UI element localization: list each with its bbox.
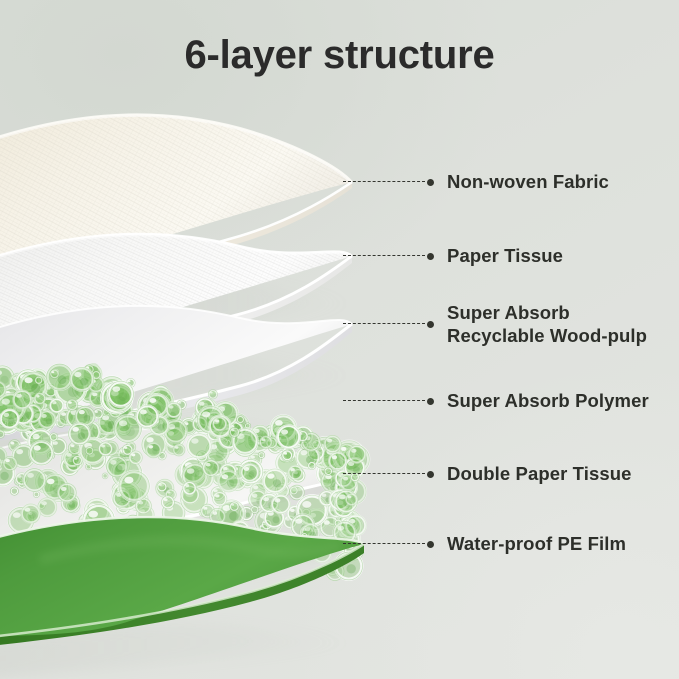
callout-label-non-woven-fabric: Non-woven Fabric	[447, 170, 609, 193]
callout-label-pe-film: Water-proof PE Film	[447, 532, 626, 555]
callout-label-double-paper-tissue: Double Paper Tissue	[447, 462, 632, 485]
leader-line-icon	[343, 473, 425, 474]
leader-line-icon	[343, 181, 425, 182]
callout-label-wood-pulp: Super Absorb Recyclable Wood-pulp	[447, 301, 647, 347]
callout-label-polymer: Super Absorb Polymer	[447, 389, 649, 412]
leader-line-icon	[343, 400, 425, 401]
callout-list: Non-woven FabricPaper TissueSuper Absorb…	[0, 0, 679, 679]
page-title: 6-layer structure	[0, 33, 679, 78]
bullet-dot-icon	[427, 321, 434, 328]
callout-label-paper-tissue: Paper Tissue	[447, 244, 563, 267]
bullet-dot-icon	[427, 541, 434, 548]
leader-line-icon	[343, 543, 425, 544]
leader-line-icon	[343, 323, 425, 324]
bullet-dot-icon	[427, 253, 434, 260]
bullet-dot-icon	[427, 398, 434, 405]
bullet-dot-icon	[427, 471, 434, 478]
leader-line-icon	[343, 255, 425, 256]
infographic-scene: 6-layer structure	[0, 0, 679, 679]
bullet-dot-icon	[427, 179, 434, 186]
